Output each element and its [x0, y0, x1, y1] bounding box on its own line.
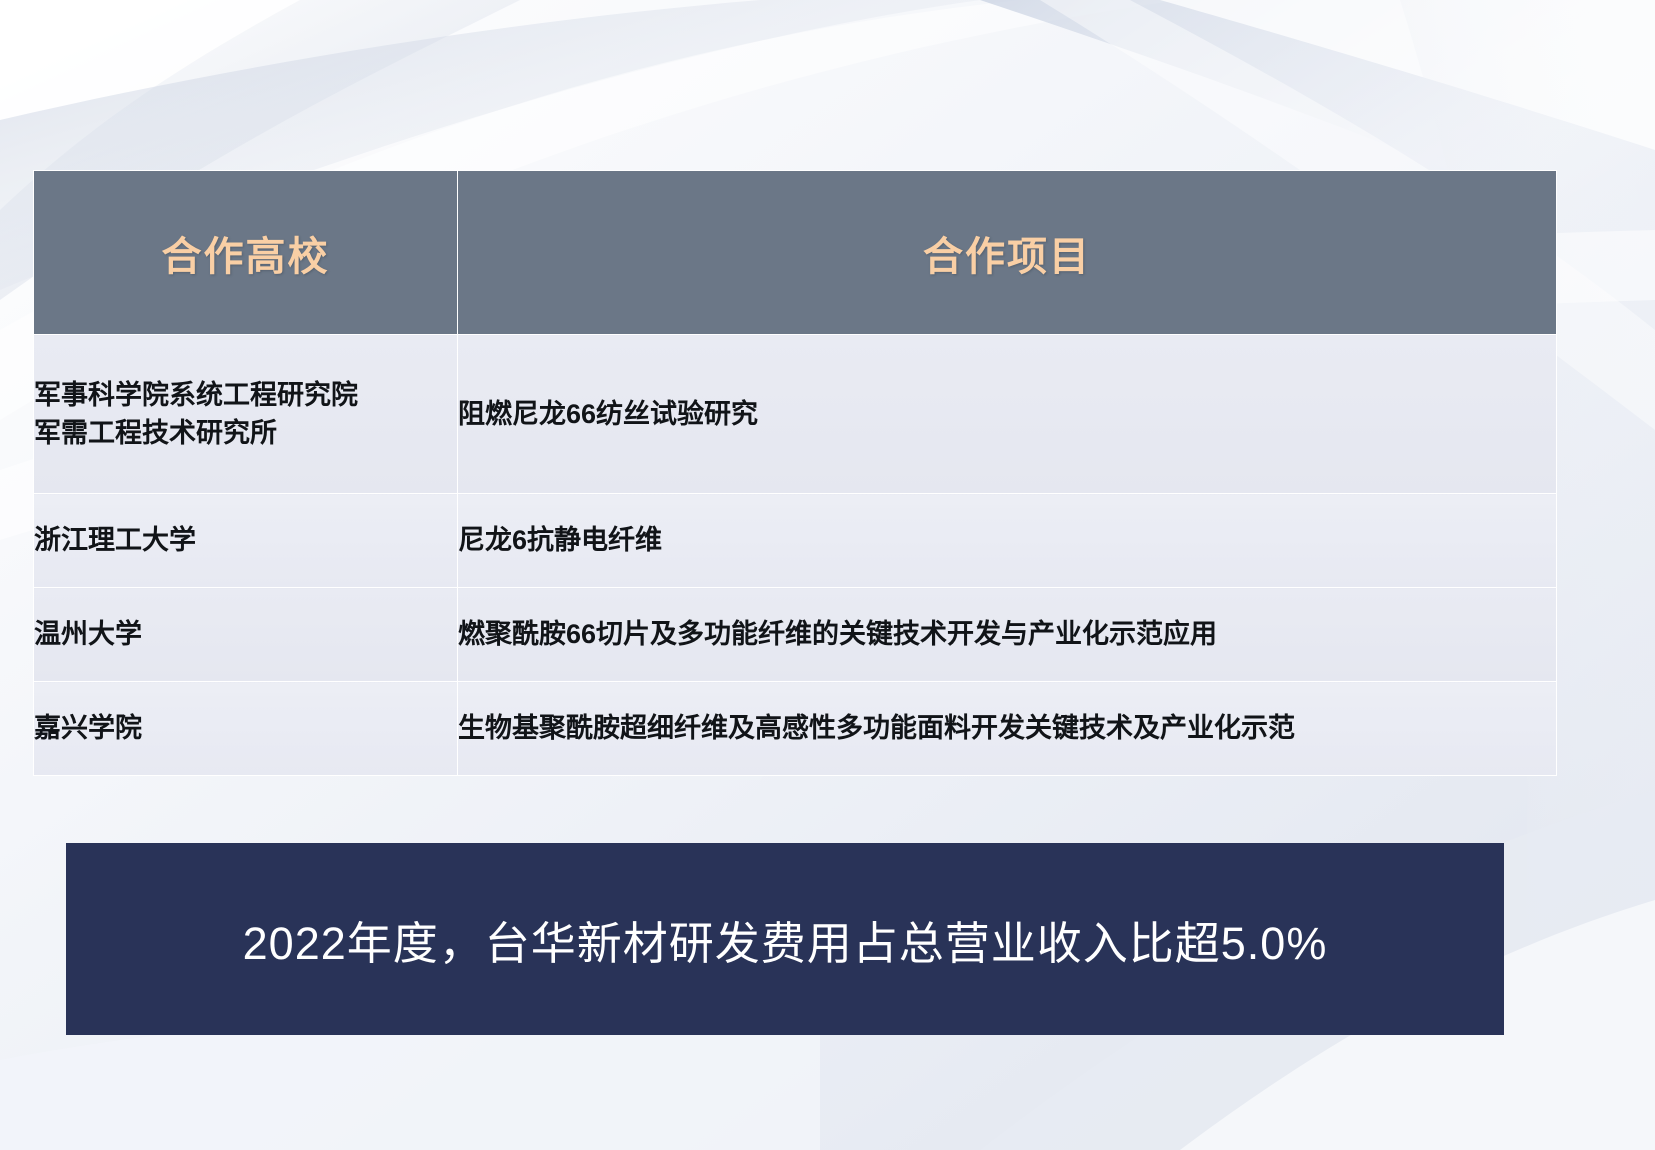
cooperation-table-container: 合作高校 合作项目 军事科学院系统工程研究院 军需工程技术研究所 阻燃尼龙66纺…	[33, 170, 1557, 776]
school-name-line-2: 军需工程技术研究所	[34, 414, 457, 452]
summary-banner: 2022年度，台华新材研发费用占总营业收入比超5.0%	[66, 843, 1504, 1035]
school-name-line-1: 嘉兴学院	[34, 709, 457, 747]
school-name-line-1: 浙江理工大学	[34, 521, 457, 559]
cell-project: 燃聚酰胺66切片及多功能纤维的关键技术开发与产业化示范应用	[458, 588, 1557, 682]
cell-school: 温州大学	[34, 588, 458, 682]
cell-school: 军事科学院系统工程研究院 军需工程技术研究所	[34, 335, 458, 494]
summary-banner-text: 2022年度，台华新材研发费用占总营业收入比超5.0%	[243, 907, 1328, 972]
cell-school: 浙江理工大学	[34, 494, 458, 588]
school-name-line-1: 军事科学院系统工程研究院	[34, 376, 457, 414]
column-header-school: 合作高校	[34, 171, 458, 335]
cell-project: 尼龙6抗静电纤维	[458, 494, 1557, 588]
table-row: 军事科学院系统工程研究院 军需工程技术研究所 阻燃尼龙66纺丝试验研究	[34, 335, 1557, 494]
cell-school: 嘉兴学院	[34, 682, 458, 776]
cell-project: 生物基聚酰胺超细纤维及高感性多功能面料开发关键技术及产业化示范	[458, 682, 1557, 776]
cell-project: 阻燃尼龙66纺丝试验研究	[458, 335, 1557, 494]
table-header-row: 合作高校 合作项目	[34, 171, 1557, 335]
table-row: 嘉兴学院 生物基聚酰胺超细纤维及高感性多功能面料开发关键技术及产业化示范	[34, 682, 1557, 776]
school-name-line-1: 温州大学	[34, 615, 457, 653]
cooperation-table: 合作高校 合作项目 军事科学院系统工程研究院 军需工程技术研究所 阻燃尼龙66纺…	[33, 170, 1557, 776]
table-row: 温州大学 燃聚酰胺66切片及多功能纤维的关键技术开发与产业化示范应用	[34, 588, 1557, 682]
table-row: 浙江理工大学 尼龙6抗静电纤维	[34, 494, 1557, 588]
column-header-project: 合作项目	[458, 171, 1557, 335]
slide-root: 合作高校 合作项目 军事科学院系统工程研究院 军需工程技术研究所 阻燃尼龙66纺…	[0, 0, 1655, 1150]
table-body: 军事科学院系统工程研究院 军需工程技术研究所 阻燃尼龙66纺丝试验研究 浙江理工…	[34, 335, 1557, 776]
table-header: 合作高校 合作项目	[34, 171, 1557, 335]
